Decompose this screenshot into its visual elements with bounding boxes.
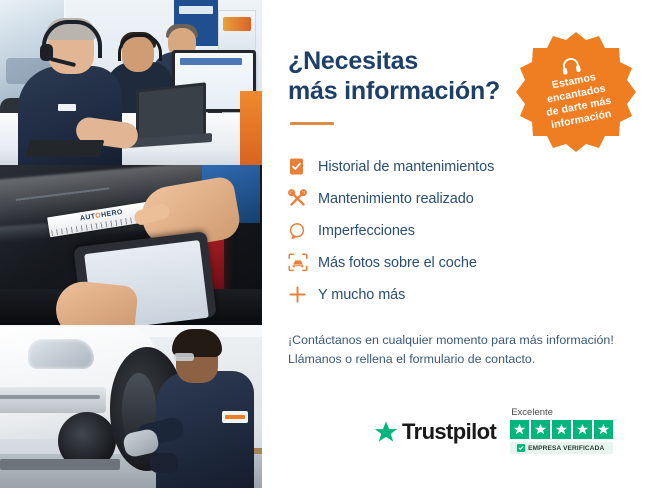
trustpilot-score-block: Excelente — [510, 407, 613, 454]
agent1-name-badge — [58, 104, 76, 111]
headline-line-1: ¿Necesitas — [288, 47, 418, 75]
feature-label: Mantenimiento realizado — [318, 191, 474, 207]
orange-equipment — [240, 91, 262, 165]
trustpilot-logo[interactable]: Trustpilot — [374, 419, 496, 454]
feature-item-much-more: Y mucho más — [288, 279, 624, 311]
star-filled — [573, 420, 592, 439]
contact-line-1: ¡Contáctanos en cualquier momento para m… — [288, 331, 624, 350]
speech-bubble-icon — [288, 222, 318, 240]
feature-item-more-photos: Más fotos sobre el coche — [288, 247, 624, 279]
mechanic-logo-badge — [222, 411, 248, 423]
mechanic-second-glove — [150, 453, 178, 473]
trustpilot-rating-label: Excelente — [510, 407, 553, 418]
car-lift-arm — [0, 459, 120, 470]
trustpilot-star-icon — [374, 421, 398, 444]
feature-label: Y mucho más — [318, 287, 405, 303]
agent2-headset-icon — [118, 34, 162, 61]
maintenance-history-icon — [288, 157, 318, 176]
car-scan-icon — [288, 253, 318, 272]
vehicle-inspection-ruler-photo: AUTOHERO — [0, 165, 262, 325]
wall-poster — [218, 10, 256, 52]
star-filled — [594, 420, 613, 439]
info-banner: AUTOHERO — [0, 0, 650, 488]
page-title: ¿Necesitas más información? — [288, 46, 518, 107]
feature-item-imperfections: Imperfecciones — [288, 215, 624, 247]
contact-text: ¡Contáctanos en cualquier momento para m… — [288, 331, 624, 370]
feature-item-maintenance-history: Historial de mantenimientos — [288, 151, 624, 183]
plus-icon — [288, 285, 318, 304]
headline-line-2: más información? — [288, 77, 500, 105]
call-center-agents-photo — [0, 0, 262, 165]
check-icon — [517, 444, 525, 452]
tools-icon — [288, 189, 318, 208]
feature-list: Historial de mantenimientos Mantenimient… — [288, 151, 624, 311]
mechanic-wheel-inspection-photo — [0, 325, 262, 488]
trustpilot-stars — [510, 420, 613, 439]
star-filled — [552, 420, 571, 439]
trustpilot-rating[interactable]: Trustpilot Excelente — [374, 407, 613, 454]
star-filled — [510, 420, 529, 439]
feature-label: Imperfecciones — [318, 223, 415, 239]
car-headlight — [28, 339, 94, 369]
photo-column: AUTOHERO — [0, 0, 262, 488]
content-panel: ¿Necesitas más información? Estamos enca… — [262, 0, 650, 488]
support-badge: Estamos encantados de darte más informac… — [514, 30, 638, 154]
feature-label: Historial de mantenimientos — [318, 159, 494, 175]
desk-tablet — [26, 140, 105, 157]
star-filled — [531, 420, 550, 439]
car-grille — [0, 387, 106, 413]
verified-company-text: EMPRESA VERIFICADA — [528, 445, 604, 452]
trustpilot-wordmark: Trustpilot — [402, 419, 496, 445]
verified-company-badge: EMPRESA VERIFICADA — [510, 442, 613, 454]
feature-label: Más fotos sobre el coche — [318, 255, 477, 271]
starburst-shape-icon — [514, 30, 638, 154]
feature-item-maintenance-done: Mantenimiento realizado — [288, 183, 624, 215]
title-divider — [290, 122, 334, 125]
mechanic-safety-glasses — [174, 353, 194, 361]
contact-line-2: Llámanos o rellena el formulario de cont… — [288, 350, 624, 369]
